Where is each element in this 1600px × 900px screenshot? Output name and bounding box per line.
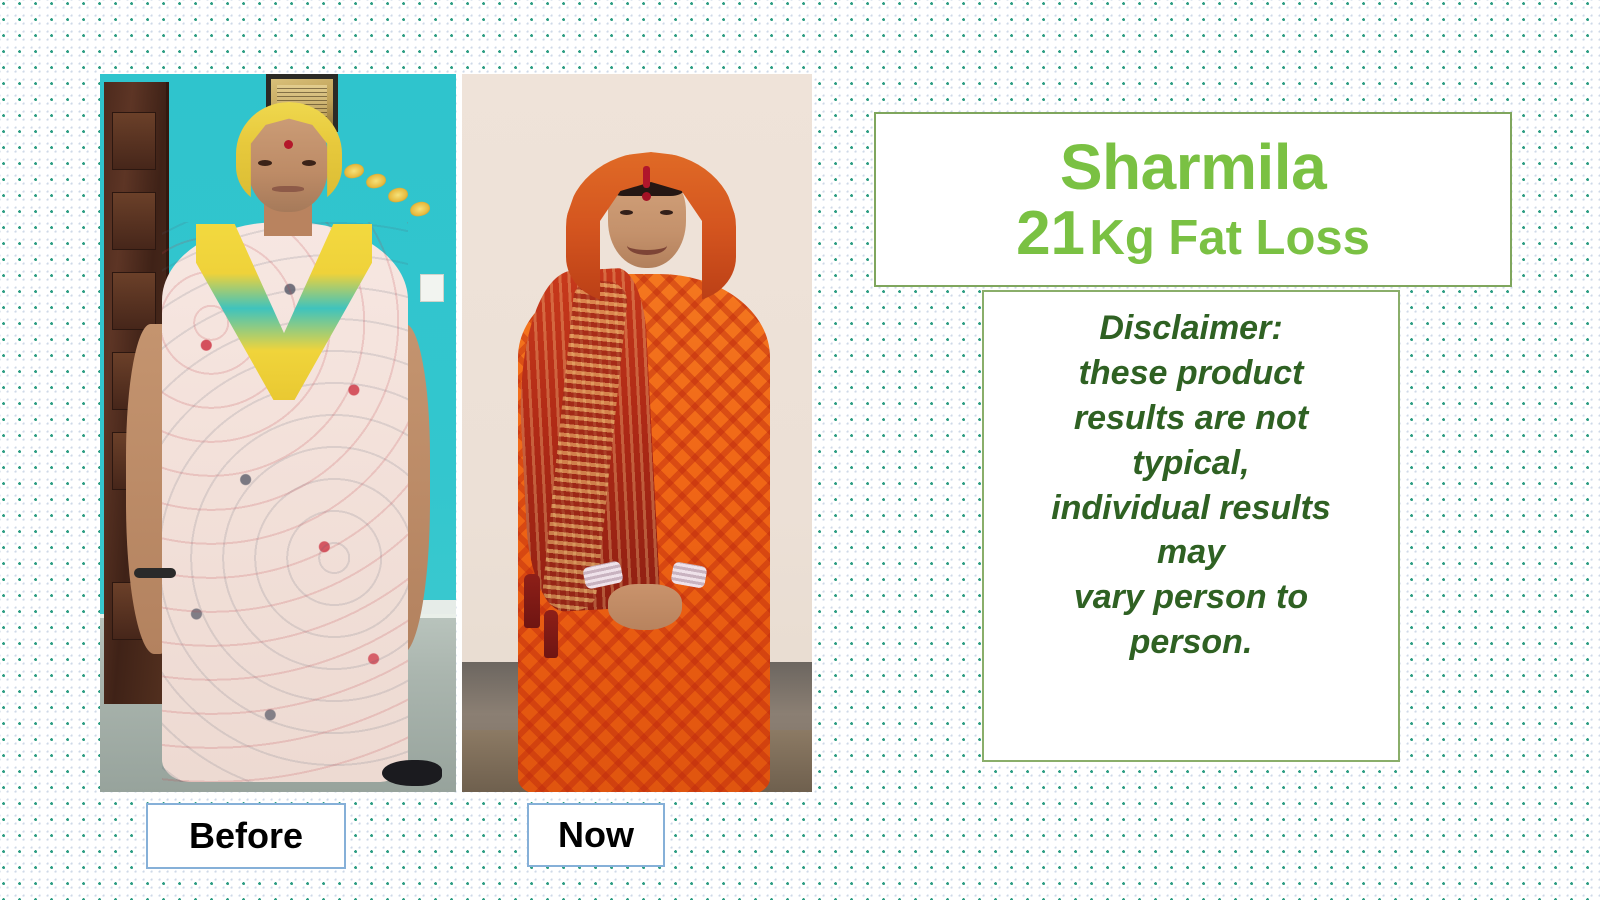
before-photo-butterfly-decals: [340, 162, 440, 222]
fat-loss-unit-label: Kg Fat Loss: [1090, 211, 1370, 265]
now-photo-tassel-second: [544, 610, 558, 658]
disclaimer-line: these product: [1079, 351, 1304, 396]
disclaimer-line: Disclaimer:: [1099, 306, 1282, 351]
before-photo-bangle: [134, 568, 176, 578]
disclaimer-card: Disclaimer: these product results are no…: [982, 290, 1400, 762]
before-photo-mouth: [272, 186, 304, 192]
caption-before: Before: [146, 803, 346, 869]
before-photo-light-switch: [420, 274, 444, 302]
fat-loss-headline: 21 Kg Fat Loss: [1016, 203, 1370, 265]
title-card: Sharmila 21 Kg Fat Loss: [874, 112, 1512, 287]
now-photo-tassel: [524, 574, 540, 628]
caption-now: Now: [527, 803, 665, 867]
now-photo-sindoor: [643, 166, 650, 188]
disclaimer-line: may: [1157, 530, 1225, 575]
before-photo-kurta: [162, 222, 408, 782]
person-name: Sharmila: [1060, 135, 1326, 199]
before-photo-slipper: [382, 760, 442, 786]
disclaimer-line: typical,: [1132, 441, 1249, 486]
disclaimer-line: vary person to: [1074, 575, 1308, 620]
now-photo-hands: [608, 584, 682, 630]
now-photo-bindi: [642, 192, 651, 201]
disclaimer-line: person.: [1130, 620, 1253, 665]
before-photo: [100, 74, 456, 792]
disclaimer-line: individual results: [1051, 486, 1331, 531]
before-photo-bindi: [284, 140, 293, 149]
now-photo-smile: [627, 236, 667, 255]
now-photo: [462, 74, 812, 792]
disclaimer-line: results are not: [1074, 396, 1308, 441]
fat-loss-amount: 21: [1016, 199, 1085, 268]
testimonial-slide: Sharmila 21 Kg Fat Loss Disclaimer: thes…: [0, 0, 1600, 900]
